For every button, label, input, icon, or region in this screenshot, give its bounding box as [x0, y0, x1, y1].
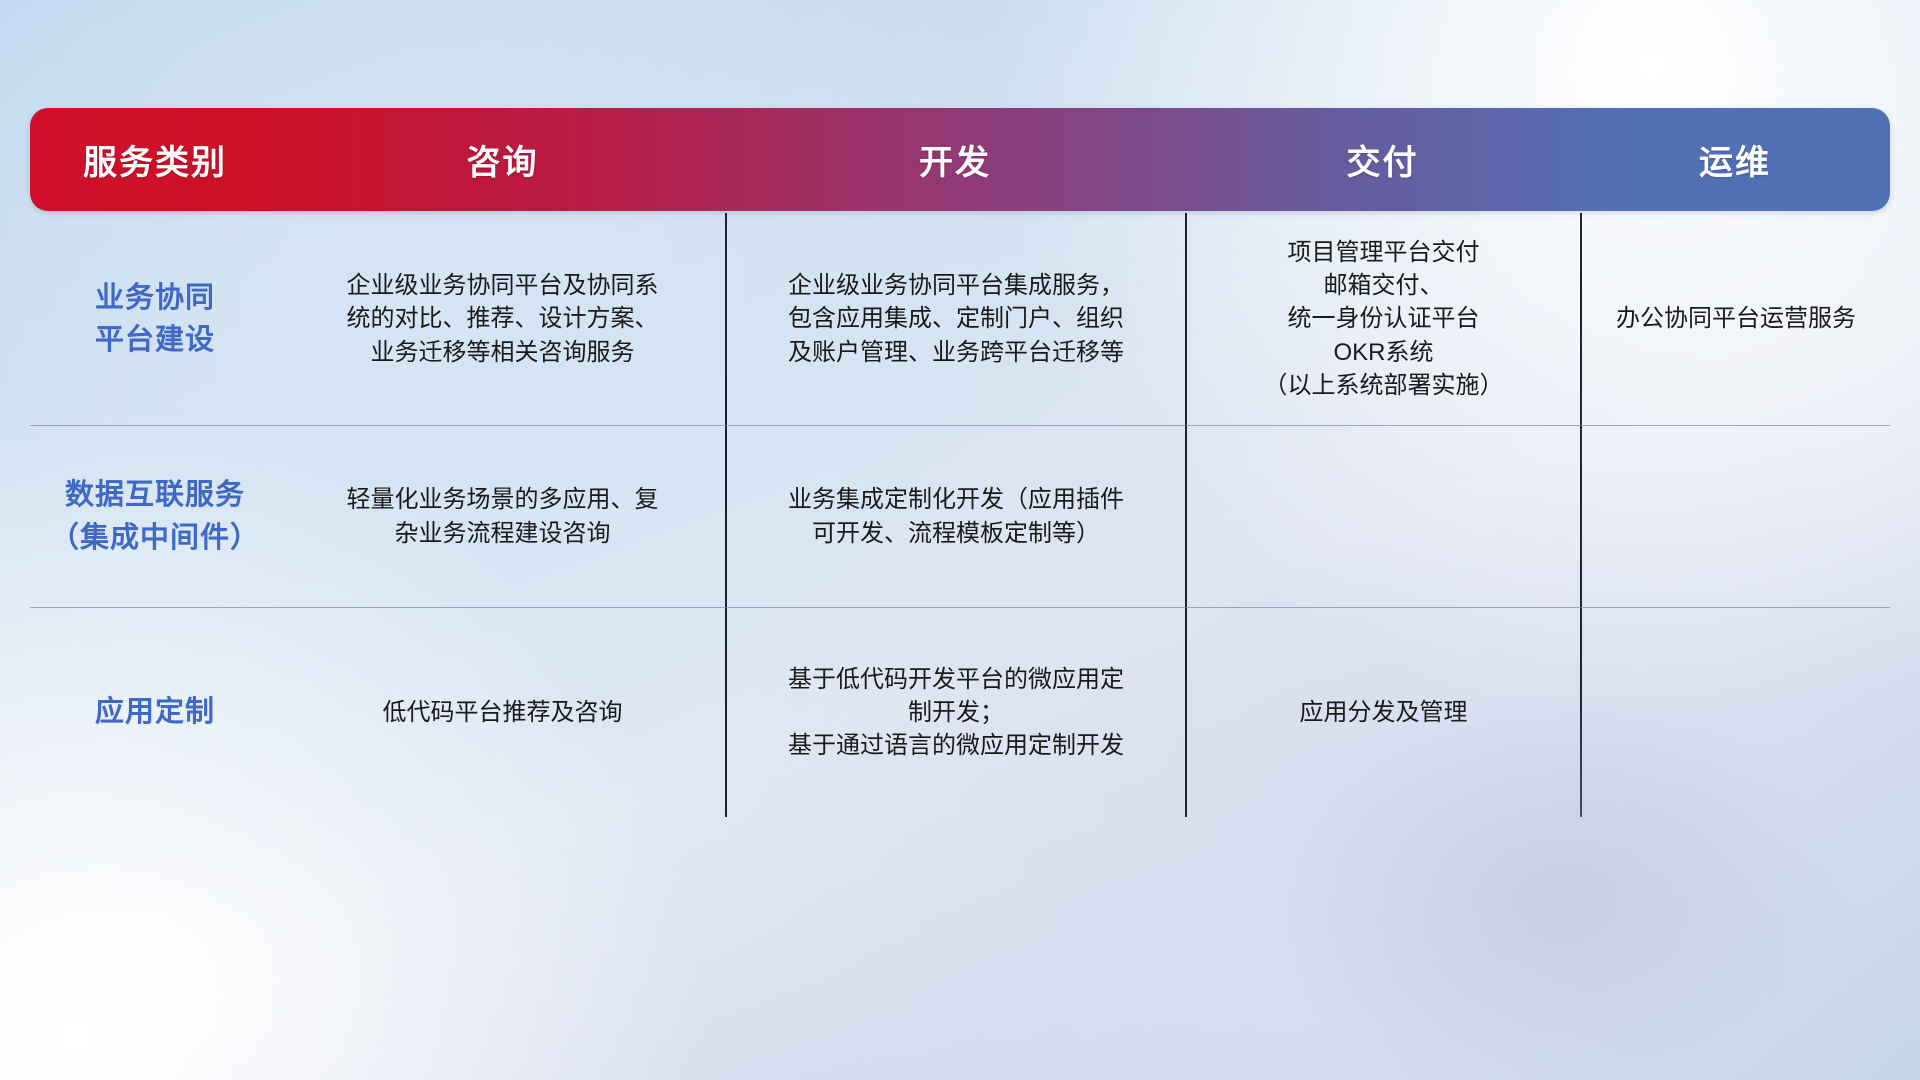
table-row: 应用定制 低代码平台推荐及咨询 基于低代码开发平台的微应用定 制开发； 基于通过… — [30, 607, 1890, 817]
row-category-label: 数据互联服务 （集成中间件） — [30, 425, 280, 607]
cell-development: 基于低代码开发平台的微应用定 制开发； 基于通过语言的微应用定制开发 — [725, 607, 1185, 817]
row-category-label: 应用定制 — [30, 607, 280, 817]
cell-delivery: 项目管理平台交付 邮箱交付、 统一身份认证平台 OKR系统 （以上系统部署实施） — [1185, 213, 1580, 425]
column-header-delivery: 交付 — [1185, 108, 1580, 211]
cell-development: 企业级业务协同平台集成服务， 包含应用集成、定制门户、组织 及账户管理、业务跨平… — [725, 213, 1185, 425]
cell-operations — [1580, 607, 1890, 817]
cell-delivery — [1185, 425, 1580, 607]
table-header-row: 服务类别 咨询 开发 交付 运维 — [30, 108, 1890, 211]
cell-operations: 办公协同平台运营服务 — [1580, 213, 1890, 425]
row-category-label: 业务协同 平台建设 — [30, 213, 280, 425]
column-header-consulting: 咨询 — [280, 108, 725, 211]
table-body: 业务协同 平台建设 企业级业务协同平台及协同系 统的对比、推荐、设计方案、 业务… — [30, 213, 1890, 817]
cell-delivery: 应用分发及管理 — [1185, 607, 1580, 817]
cell-development: 业务集成定制化开发（应用插件 可开发、流程模板定制等） — [725, 425, 1185, 607]
cell-consulting: 低代码平台推荐及咨询 — [280, 607, 725, 817]
column-header-development: 开发 — [725, 108, 1185, 211]
column-header-operations: 运维 — [1580, 108, 1890, 211]
table-row: 数据互联服务 （集成中间件） 轻量化业务场景的多应用、复 杂业务流程建设咨询 业… — [30, 425, 1890, 607]
cell-consulting: 企业级业务协同平台及协同系 统的对比、推荐、设计方案、 业务迁移等相关咨询服务 — [280, 213, 725, 425]
column-header-category: 服务类别 — [30, 108, 280, 211]
cell-operations — [1580, 425, 1890, 607]
service-matrix-table: 服务类别 咨询 开发 交付 运维 业务协同 平台建设 企业级业务协同平台及协同系… — [30, 108, 1890, 817]
cell-consulting: 轻量化业务场景的多应用、复 杂业务流程建设咨询 — [280, 425, 725, 607]
slide-canvas: 服务类别 咨询 开发 交付 运维 业务协同 平台建设 企业级业务协同平台及协同系… — [0, 0, 1920, 1080]
table-row: 业务协同 平台建设 企业级业务协同平台及协同系 统的对比、推荐、设计方案、 业务… — [30, 213, 1890, 425]
